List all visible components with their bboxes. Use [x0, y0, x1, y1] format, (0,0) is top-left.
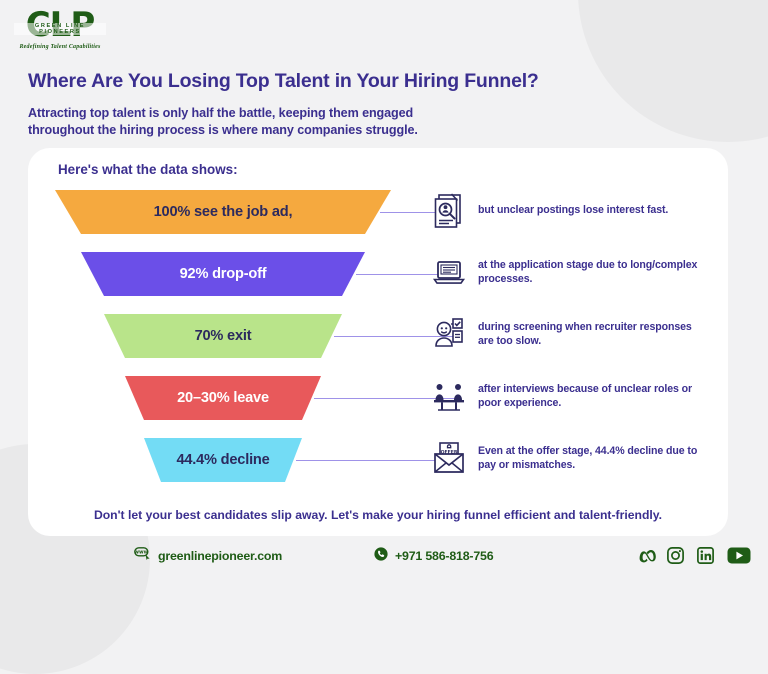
hiring-funnel-chart: 100% see the job ad,92% drop-off70% exit… — [58, 190, 388, 500]
recruiter-screening-icon — [432, 316, 466, 352]
funnel-stage-2-label: 92% drop-off — [180, 266, 267, 282]
youtube-icon[interactable] — [727, 547, 746, 566]
funnel-stage-2: 92% drop-off — [81, 252, 365, 296]
funnel-stage-1: 100% see the job ad, — [55, 190, 391, 234]
funnel-stage-5: 44.4% decline — [144, 438, 302, 482]
interview-table-icon — [432, 378, 466, 414]
funnel-description-5: OFFER Even at the offer stage, 44.4% dec… — [432, 440, 704, 476]
funnel-description-5-text: Even at the offer stage, 44.4% decline d… — [478, 444, 704, 473]
funnel-stage-3: 70% exit — [104, 314, 342, 358]
footer-website[interactable]: www greenlinepioneer.com — [134, 547, 282, 565]
content-card: Here's what the data shows: 100% see the… — [28, 148, 728, 536]
job-posting-search-icon — [432, 192, 466, 228]
card-footnote: Don't let your best candidates slip away… — [28, 508, 728, 522]
laptop-icon — [432, 254, 466, 290]
svg-text:www: www — [134, 550, 148, 556]
funnel-description-4: after interviews because of unclear role… — [432, 378, 704, 414]
linkedin-icon[interactable] — [697, 547, 716, 566]
company-logo: CLP GREEN LINE PIONEERS Redefining Talen… — [14, 8, 106, 56]
instagram-icon[interactable] — [667, 547, 686, 566]
footer-phone[interactable]: +971 586-818-756 — [374, 547, 493, 566]
funnel-stage-4-label: 20–30% leave — [177, 390, 269, 406]
phone-label: +971 586-818-756 — [395, 549, 493, 563]
decorative-circle-top-right — [578, 0, 768, 142]
card-title: Here's what the data shows: — [58, 162, 238, 177]
funnel-stage-5-label: 44.4% decline — [176, 452, 269, 468]
page-subtitle: Attracting top talent is only half the b… — [28, 105, 418, 139]
page-title: Where Are You Losing Top Talent in Your … — [28, 70, 539, 93]
meta-icon[interactable] — [637, 547, 656, 566]
funnel-description-3: during screening when recruiter response… — [432, 316, 704, 352]
website-icon: www — [134, 547, 151, 565]
funnel-description-1: but unclear postings lose interest fast. — [432, 192, 704, 228]
offer-envelope-icon: OFFER — [432, 440, 466, 476]
funnel-stage-1-label: 100% see the job ad, — [154, 204, 293, 220]
funnel-description-2-text: at the application stage due to long/com… — [478, 258, 704, 287]
funnel-description-2: at the application stage due to long/com… — [432, 254, 704, 290]
website-label: greenlinepioneer.com — [158, 549, 282, 563]
logo-tagline: Redefining Talent Capabilities — [14, 44, 106, 50]
page-subtitle-line-2: throughout the hiring process is where m… — [28, 122, 418, 139]
funnel-description-4-text: after interviews because of unclear role… — [478, 382, 704, 411]
funnel-description-1-text: but unclear postings lose interest fast. — [478, 203, 668, 218]
funnel-stage-4: 20–30% leave — [125, 376, 321, 420]
footer-bar: www greenlinepioneer.com +971 586-818-75… — [0, 536, 768, 576]
funnel-stage-3-label: 70% exit — [195, 328, 252, 344]
social-links — [637, 547, 746, 566]
phone-icon — [374, 547, 388, 566]
logo-band-text: GREEN LINE PIONEERS — [14, 23, 106, 35]
funnel-description-3-text: during screening when recruiter response… — [478, 320, 704, 349]
page-subtitle-line-1: Attracting top talent is only half the b… — [28, 105, 418, 122]
